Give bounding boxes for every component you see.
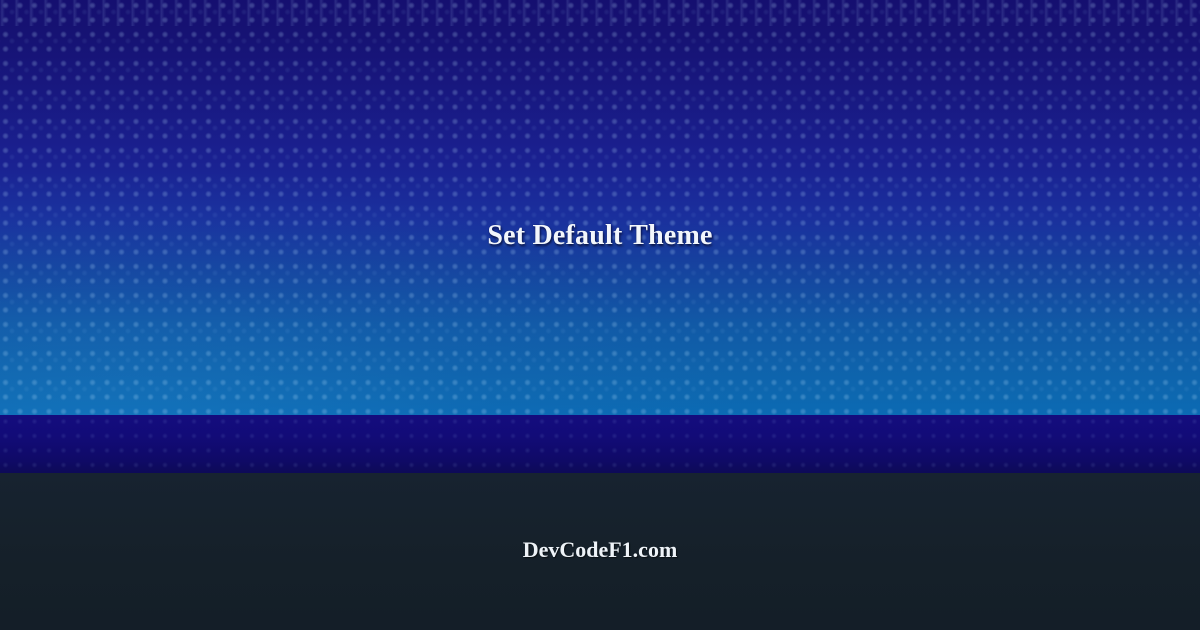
brand-wordmark: DevCodeF1.com (0, 536, 1200, 564)
page-title: Set Default Theme (0, 219, 1200, 253)
hero-lower-band (0, 415, 1200, 473)
social-card: Set Default Theme DevCodeF1.com (0, 0, 1200, 630)
hero-gradient-background (0, 0, 1200, 415)
hero-banner: Set Default Theme (0, 0, 1200, 473)
